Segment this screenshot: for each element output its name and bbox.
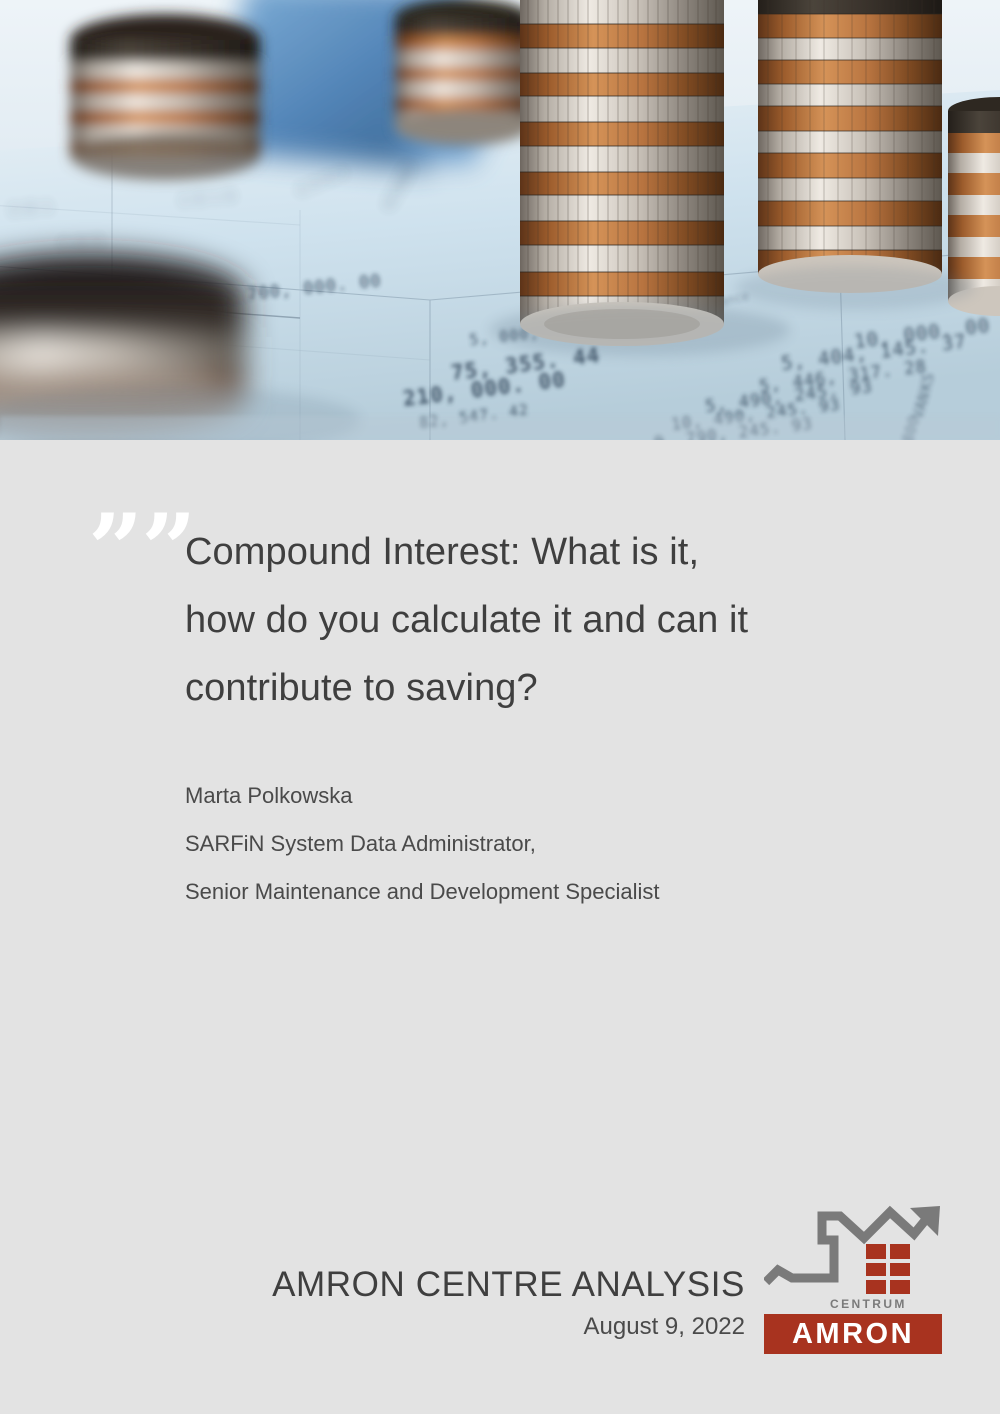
hero-photo: 700, 000. 00 5, 000, 000. 00 75, 355. 44… (0, 0, 1000, 440)
footer-title: AMRON CENTRE ANALYSIS (272, 1262, 745, 1308)
page-title-line-1: Compound Interest: What is it, (185, 518, 885, 586)
page-title: Compound Interest: What is it, how do yo… (185, 518, 885, 722)
author-name: Marta Polkowska (185, 772, 905, 820)
page-footer: AMRON CENTRE ANALYSIS August 9, 2022 (0, 1210, 1000, 1370)
footer-text-block: AMRON CENTRE ANALYSIS August 9, 2022 (272, 1262, 745, 1346)
page-title-line-3: contribute to saving? (185, 654, 885, 722)
amron-logo: CENTRUM AMRON (764, 1204, 954, 1354)
page-title-line-2: how do you calculate it and can it (185, 586, 885, 654)
logo-tagline: CENTRUM (830, 1298, 907, 1310)
hero-photo-illustration: 700, 000. 00 5, 000, 000. 00 75, 355. 44… (0, 0, 1000, 440)
author-role-line-1: SARFiN System Data Administrator, (185, 820, 905, 868)
red-window-grid-icon (866, 1244, 910, 1294)
logo-wordmark: AMRON (764, 1314, 942, 1354)
cover-page: 700, 000. 00 5, 000, 000. 00 75, 355. 44… (0, 0, 1000, 1414)
svg-text:KS: KS (916, 371, 937, 392)
author-block: Marta Polkowska SARFiN System Data Admin… (185, 772, 905, 916)
footer-date: August 9, 2022 (272, 1308, 745, 1346)
author-role-line-2: Senior Maintenance and Development Speci… (185, 868, 905, 916)
cover-content: ”” Compound Interest: What is it, how do… (0, 440, 1000, 1414)
quote-mark-icon: ”” (88, 502, 194, 598)
logo-wordmark-text: AMRON (792, 1320, 914, 1349)
